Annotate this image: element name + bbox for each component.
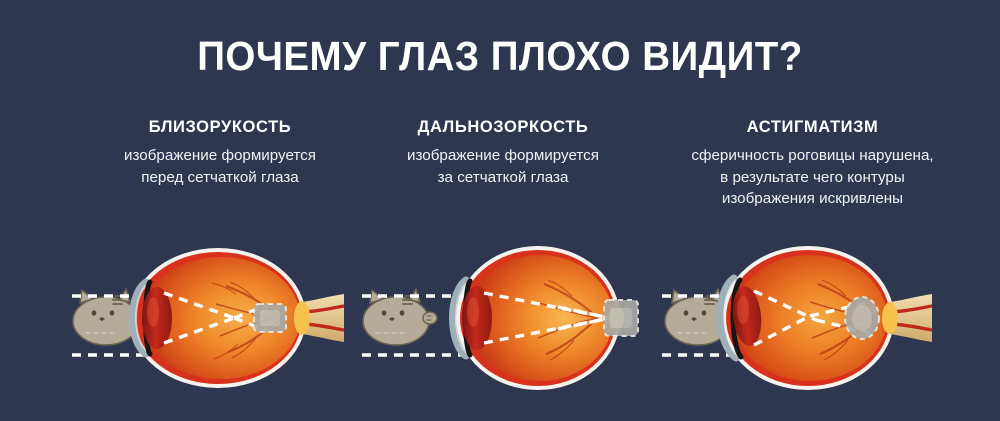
column-hyperopia: ДАЛЬНОЗОРКОСТЬ изображение формируется з… bbox=[348, 118, 658, 188]
infographic-root: ПОЧЕМУ ГЛАЗ ПЛОХО ВИДИТ? БЛИЗОРУКОСТЬ из… bbox=[0, 0, 1000, 421]
diagram-astigmatism bbox=[640, 238, 940, 398]
eye-cross-section bbox=[720, 246, 932, 390]
column-heading-myopia: БЛИЗОРУКОСТЬ bbox=[55, 118, 385, 136]
column-myopia: БЛИЗОРУКОСТЬ изображение формируется пер… bbox=[55, 118, 385, 188]
description-line: перед сетчаткой глаза bbox=[55, 167, 385, 189]
description-line: за сетчаткой глаза bbox=[348, 167, 658, 189]
column-description-myopia: изображение формируется перед сетчаткой … bbox=[55, 145, 385, 188]
description-line: изображение формируется bbox=[55, 145, 385, 167]
eye-cross-section bbox=[453, 246, 625, 390]
diagram-hyperopia bbox=[348, 238, 648, 398]
description-line: сферичность роговицы нарушена, bbox=[645, 145, 980, 167]
description-line: в результате чего контуры bbox=[645, 167, 980, 189]
column-astigmatism: АСТИГМАТИЗМ сферичность роговицы нарушен… bbox=[645, 118, 980, 210]
diagram-myopia bbox=[58, 238, 358, 398]
column-description-hyperopia: изображение формируется за сетчаткой гла… bbox=[348, 145, 658, 188]
diagrams-container bbox=[0, 238, 1000, 398]
blurred-retinal-image bbox=[845, 297, 879, 339]
column-heading-astigmatism: АСТИГМАТИЗМ bbox=[645, 118, 980, 136]
column-description-astigmatism: сферичность роговицы нарушена, в результ… bbox=[645, 145, 980, 210]
page-title: ПОЧЕМУ ГЛАЗ ПЛОХО ВИДИТ? bbox=[30, 36, 970, 77]
blurred-retinal-image bbox=[604, 300, 638, 336]
column-heading-hyperopia: ДАЛЬНОЗОРКОСТЬ bbox=[348, 118, 658, 136]
description-line: изображение формируется bbox=[348, 145, 658, 167]
columns-container: БЛИЗОРУКОСТЬ изображение формируется пер… bbox=[0, 118, 1000, 238]
blurred-retinal-image bbox=[254, 304, 286, 332]
description-line: изображения искривлены bbox=[645, 188, 980, 210]
